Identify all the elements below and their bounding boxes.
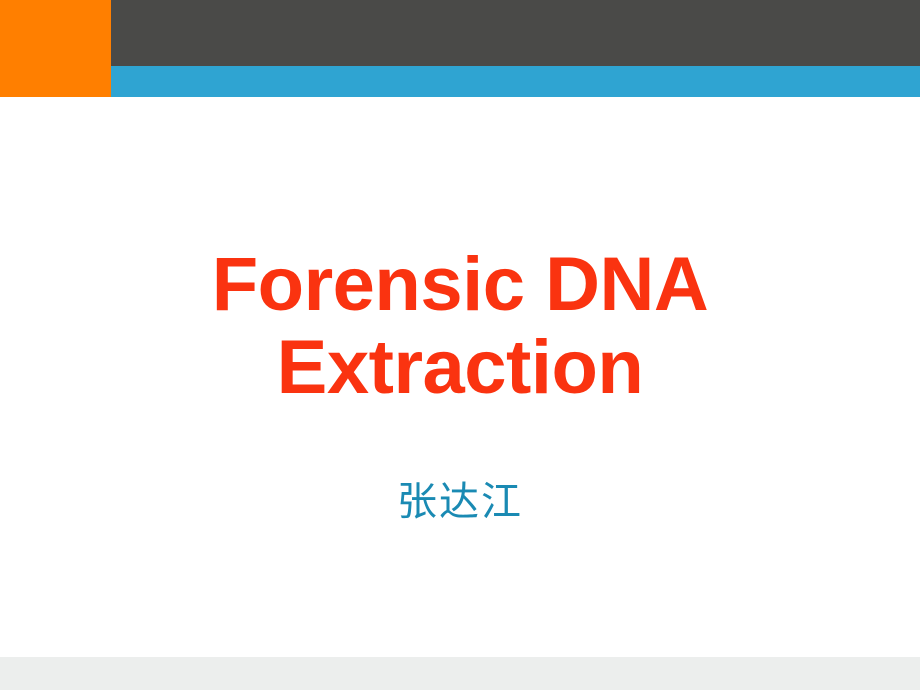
page-title: Forensic DNA Extraction <box>0 243 920 409</box>
slide-header-banner <box>0 0 920 97</box>
subtitle-block: 张达江 <box>0 478 920 526</box>
header-blue-band <box>111 66 920 97</box>
title-block: Forensic DNA Extraction <box>0 243 920 409</box>
header-orange-block <box>0 0 111 97</box>
author-name: 张达江 <box>0 478 920 526</box>
header-gray-band <box>111 0 920 66</box>
footer-bar <box>0 657 920 690</box>
slide-canvas: Forensic DNA Extraction 张达江 <box>0 0 920 690</box>
